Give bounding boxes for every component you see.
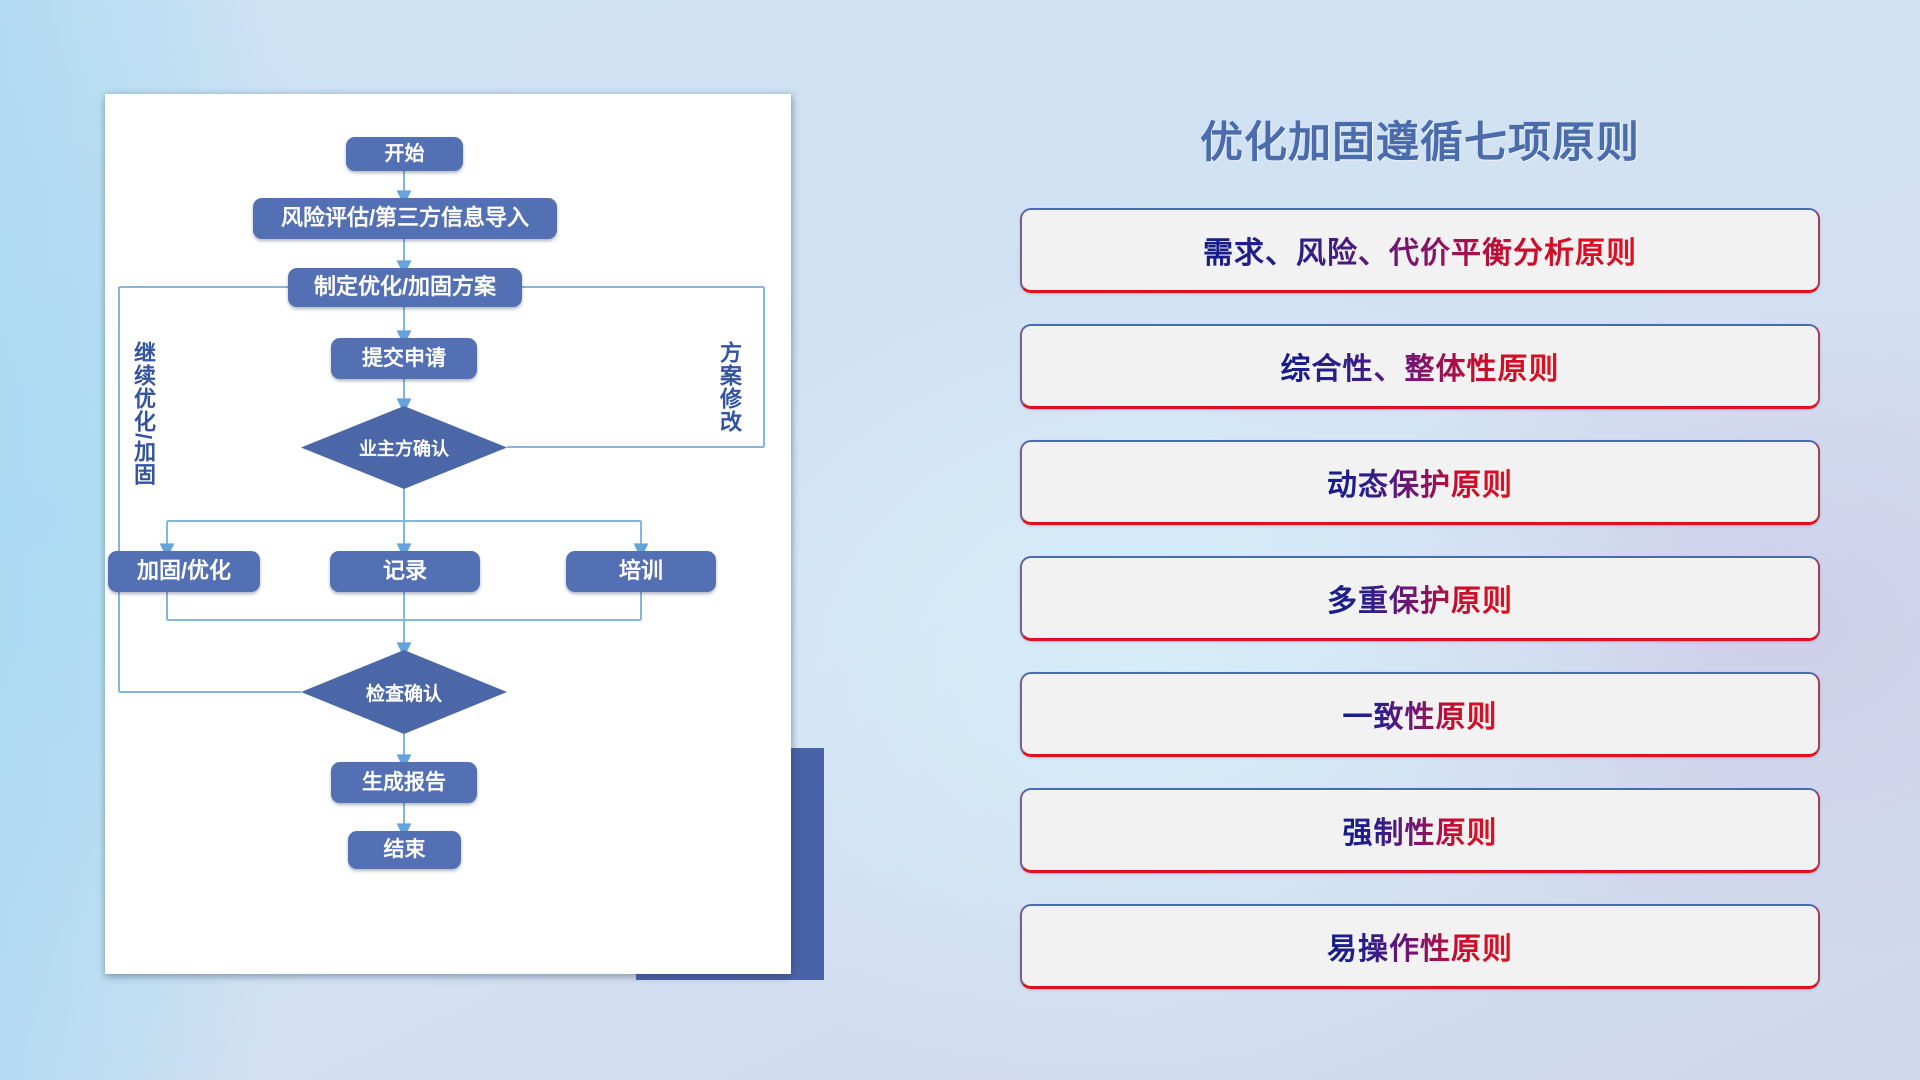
- flow-edge-label-plan-revision: 方案修改: [718, 341, 740, 461]
- principles-list: 需求、风险、代价平衡分析原则 综合性、整体性原则 动态保护原则 多重保护原则 一…: [1020, 208, 1820, 1020]
- flow-node-check-confirm[interactable]: 检查确认: [301, 650, 507, 734]
- flow-node-label: 风险评估/第三方信息导入: [281, 206, 529, 230]
- principle-item[interactable]: 易操作性原则: [1020, 904, 1820, 989]
- flow-node-label: 培训: [619, 559, 663, 583]
- flow-node-label: 提交申请: [362, 347, 446, 370]
- flow-node-label: 检查确认: [366, 679, 442, 706]
- flow-node-end[interactable]: 结束: [348, 831, 461, 869]
- principle-item[interactable]: 综合性、整体性原则: [1020, 324, 1820, 409]
- principle-label: 综合性、整体性原则: [1281, 344, 1560, 388]
- principle-label: 强制性原则: [1343, 808, 1498, 852]
- flowchart: 开始 风险评估/第三方信息导入 制定优化/加固方案 提交申请 业主方确认 加固/…: [105, 94, 791, 974]
- principle-label: 多重保护原则: [1327, 576, 1513, 620]
- principle-item[interactable]: 动态保护原则: [1020, 440, 1820, 525]
- flow-node-start[interactable]: 开始: [346, 137, 463, 171]
- flow-node-label: 开始: [385, 143, 425, 165]
- flow-node-label: 生成报告: [362, 771, 446, 794]
- principle-item[interactable]: 一致性原则: [1020, 672, 1820, 757]
- flow-node-record[interactable]: 记录: [330, 551, 480, 592]
- principle-label: 需求、风险、代价平衡分析原则: [1203, 228, 1637, 272]
- flow-node-label: 制定优化/加固方案: [314, 275, 496, 299]
- flow-node-generate-report[interactable]: 生成报告: [331, 762, 477, 803]
- flow-node-reinforce[interactable]: 加固/优化: [108, 551, 260, 592]
- flow-node-label: 记录: [383, 559, 427, 583]
- flow-node-owner-confirm[interactable]: 业主方确认: [301, 406, 507, 489]
- principle-item[interactable]: 强制性原则: [1020, 788, 1820, 873]
- flow-edge-label-continue-optimize: 继续优化/加固: [132, 341, 154, 501]
- flow-node-training[interactable]: 培训: [566, 551, 716, 592]
- principles-panel: 优化加固遵循七项原则 需求、风险、代价平衡分析原则 综合性、整体性原则 动态保护…: [1020, 80, 1820, 1020]
- flow-node-plan[interactable]: 制定优化/加固方案: [288, 268, 522, 307]
- flow-node-submit-application[interactable]: 提交申请: [331, 338, 477, 379]
- flow-node-risk-assessment[interactable]: 风险评估/第三方信息导入: [253, 198, 557, 239]
- flowchart-card: 开始 风险评估/第三方信息导入 制定优化/加固方案 提交申请 业主方确认 加固/…: [105, 94, 791, 974]
- flow-node-label: 业主方确认: [359, 435, 449, 461]
- flow-node-label: 结束: [384, 838, 426, 861]
- principle-item[interactable]: 多重保护原则: [1020, 556, 1820, 641]
- principle-label: 一致性原则: [1343, 692, 1498, 736]
- principle-label: 动态保护原则: [1327, 460, 1513, 504]
- flow-node-label: 加固/优化: [137, 559, 231, 583]
- principle-item[interactable]: 需求、风险、代价平衡分析原则: [1020, 208, 1820, 293]
- principles-title: 优化加固遵循七项原则: [1020, 108, 1820, 170]
- principle-label: 易操作性原则: [1327, 924, 1513, 968]
